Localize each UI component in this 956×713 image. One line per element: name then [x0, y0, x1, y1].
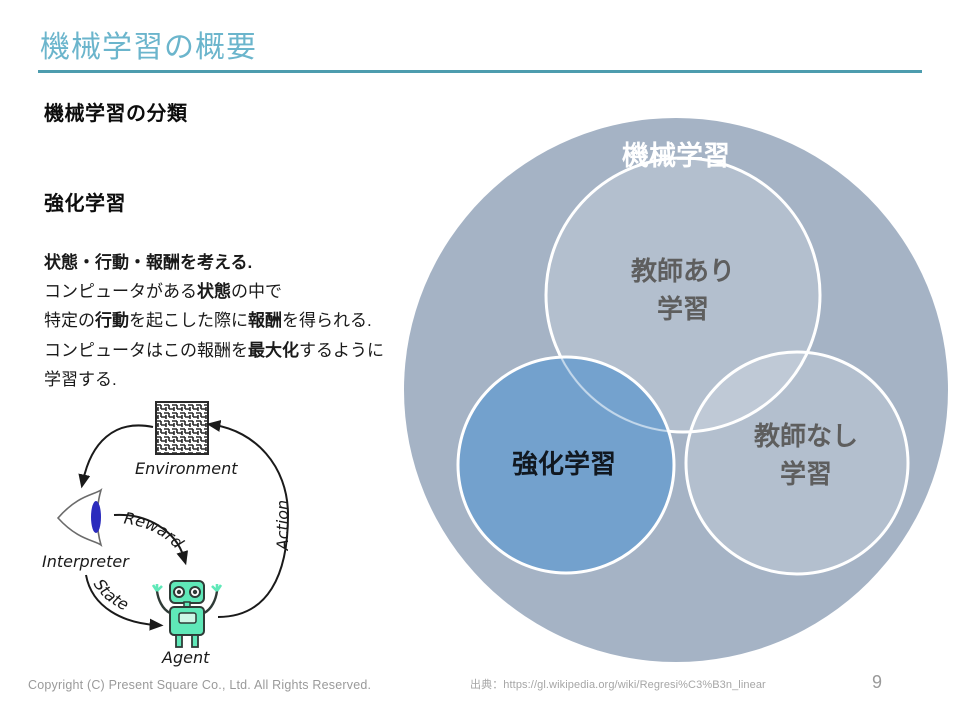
- reinforcement-learning-cycle-figure: Environment Interpreter Reward State: [36, 395, 336, 670]
- body-line-3: 特定の行動を起こした際に報酬を得られる.: [44, 306, 444, 335]
- environment-label: Environment: [135, 459, 238, 478]
- venn-label-supervised-line2: 学習: [657, 294, 709, 324]
- interpreter-label: Interpreter: [42, 552, 130, 571]
- body-line-2-c: の中で: [231, 282, 282, 301]
- venn-diagram: 機械学習 教師あり 学習 教師なし 学習 強化学習: [396, 108, 956, 678]
- heading-reinforcement-learning: 強化学習: [44, 187, 126, 216]
- source-citation: 出典：https://gl.wikipedia.org/wiki/Regresi…: [470, 676, 766, 692]
- copyright-text: Copyright (C) Present Square Co., Ltd. A…: [28, 678, 371, 692]
- body-line-3-a: 特定の: [44, 311, 95, 330]
- body-line-5: 学習する.: [44, 365, 444, 394]
- environment-maze-icon: [156, 402, 208, 454]
- body-line-4-emphasis: 最大化: [248, 341, 299, 360]
- body-line-2-a: コンピュータがある: [44, 282, 197, 301]
- agent-robot-icon: [153, 581, 221, 647]
- interpreter-eye-icon: [58, 490, 101, 545]
- body-line-3-e: を得られる.: [282, 311, 372, 330]
- body-line-3-c: を起こした際に: [129, 311, 248, 330]
- body-line-3-emphasis-2: 報酬: [248, 311, 282, 330]
- venn-label-supervised-line1: 教師あり: [631, 256, 735, 286]
- page-title: 機械学習の概要: [40, 22, 257, 66]
- body-line-2: コンピュータがある状態の中で: [44, 277, 444, 306]
- body-line-4: コンピュータはこの報酬を最大化するように: [44, 336, 444, 365]
- venn-label-reinforcement: 強化学習: [512, 449, 616, 479]
- venn-label-machine-learning: 機械学習: [622, 140, 730, 171]
- reward-label: Reward: [123, 508, 188, 552]
- body-line-lead: 状態・行動・報酬を考える.: [44, 248, 444, 277]
- title-divider: [38, 70, 922, 73]
- action-label: Action: [273, 500, 292, 551]
- page-number: 9: [872, 672, 882, 693]
- body-line-4-a: コンピュータはこの報酬を: [44, 341, 248, 360]
- body-line-4-c: するように: [299, 341, 384, 360]
- body-text-block: 状態・行動・報酬を考える. コンピュータがある状態の中で 特定の行動を起こした際…: [44, 248, 444, 394]
- venn-label-unsupervised-line2: 学習: [780, 459, 832, 489]
- state-label: State: [90, 575, 132, 614]
- heading-classification: 機械学習の分類: [44, 97, 188, 126]
- slide-canvas: 機械学習の概要 機械学習の分類 強化学習 状態・行動・報酬を考える. コンピュー…: [0, 0, 956, 713]
- body-line-3-emphasis-1: 行動: [95, 311, 129, 330]
- body-line-2-emphasis: 状態: [197, 282, 231, 301]
- agent-label: Agent: [161, 648, 210, 667]
- venn-label-unsupervised-line1: 教師なし: [754, 421, 858, 451]
